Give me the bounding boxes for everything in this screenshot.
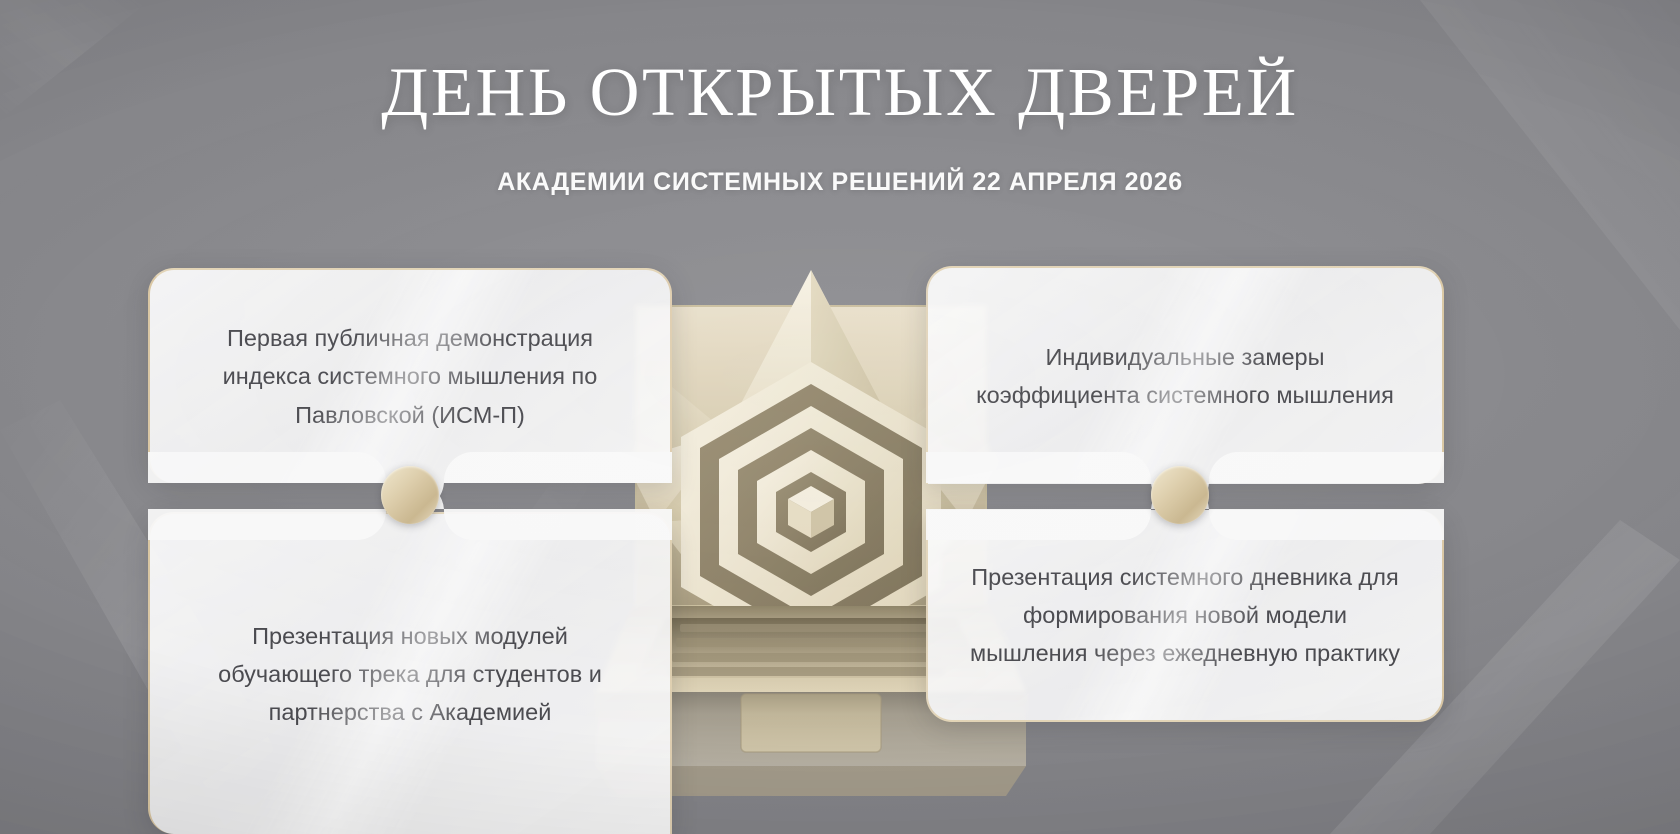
poster-canvas: ДЕНЬ ОТКРЫТЫХ ДВЕРЕЙ АКАДЕМИИ СИСТЕМНЫХ … <box>0 0 1680 834</box>
vignette-overlay <box>0 0 1680 834</box>
